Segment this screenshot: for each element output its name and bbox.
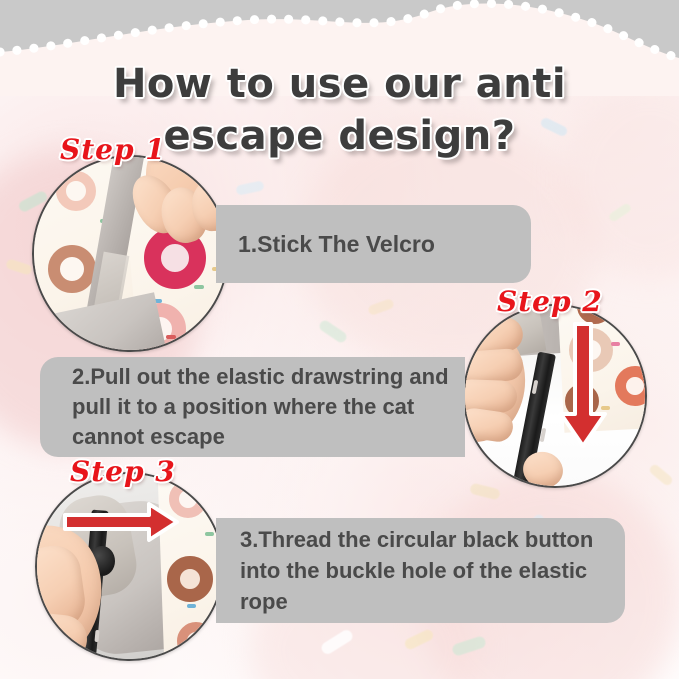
right-arrow-icon bbox=[61, 500, 181, 549]
step-badge-3: Step 3 bbox=[70, 455, 176, 488]
step-3-textbox: 3.Thread the circular black button into … bbox=[216, 518, 625, 623]
step-3-text: 3.Thread the circular black button into … bbox=[240, 524, 613, 617]
donut-motif bbox=[167, 556, 213, 602]
instruction-infographic: How to use our anti escape design? Step … bbox=[0, 0, 679, 679]
donut-motif bbox=[48, 245, 96, 293]
step-2-text: 2.Pull out the elastic drawstring and pu… bbox=[72, 362, 451, 452]
step-3-photo bbox=[35, 472, 224, 661]
page-title-line-1: How to use our anti bbox=[0, 56, 679, 112]
step-1-photo bbox=[32, 155, 229, 352]
step-badge-1: Step 1 bbox=[60, 133, 166, 166]
step-1-text: 1.Stick The Velcro bbox=[238, 229, 435, 259]
donut-motif bbox=[615, 366, 647, 406]
step-2-textbox: 2.Pull out the elastic drawstring and pu… bbox=[40, 357, 465, 457]
down-arrow-icon bbox=[557, 320, 609, 459]
step-badge-2: Step 2 bbox=[497, 285, 603, 318]
step-1-textbox: 1.Stick The Velcro bbox=[216, 205, 531, 283]
donut-motif bbox=[56, 171, 96, 211]
donut-motif bbox=[177, 622, 215, 660]
step-2-photo bbox=[463, 304, 647, 488]
